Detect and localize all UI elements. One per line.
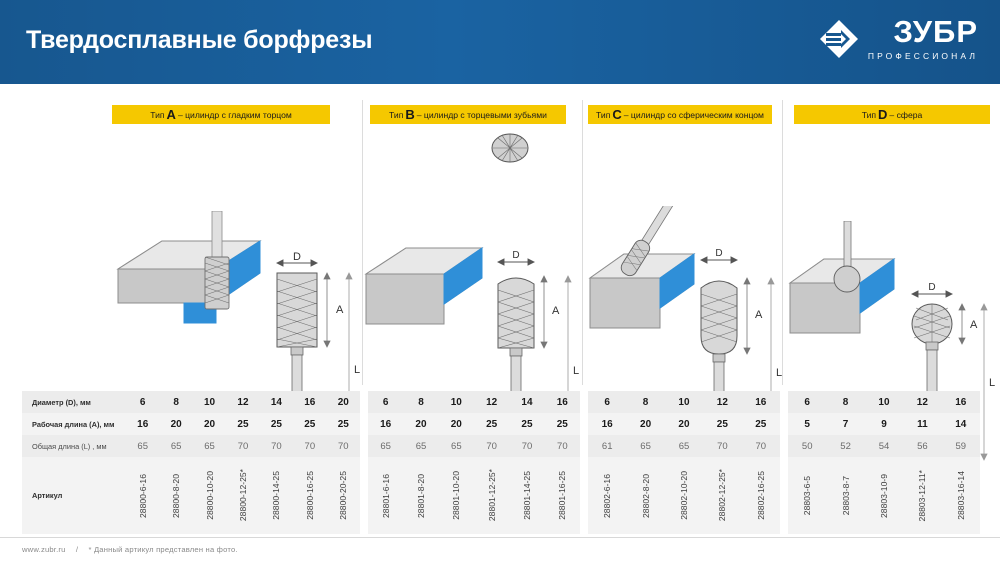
cell-article: 28800-16-25 [293, 457, 326, 534]
cell-diameter: 16 [942, 391, 980, 413]
cell-total-length: 59 [942, 435, 980, 457]
cell-working-length: 25 [703, 413, 741, 435]
table-row: Диаметр (D), мм 6 8 10 12 14 16 20 [22, 391, 360, 413]
cell-article: 28801-16-25 [545, 457, 580, 534]
cell-diameter: 16 [742, 391, 780, 413]
article-value: 28803-12-11* [917, 470, 927, 521]
cell-diameter: 16 [545, 391, 580, 413]
article-value: 28801-8-20 [416, 474, 426, 518]
cell-article: 28801-10-20 [439, 457, 474, 534]
cell-working-length: 14 [942, 413, 980, 435]
cell-diameter: 10 [439, 391, 474, 413]
cell-working-length: 25 [474, 413, 509, 435]
cell-total-length: 56 [903, 435, 941, 457]
cell-diameter: 6 [126, 391, 159, 413]
cell-working-length: 16 [126, 413, 159, 435]
cell-diameter: 8 [403, 391, 438, 413]
table-row: 16 20 20 25 25 [588, 413, 780, 435]
cell-working-length: 25 [260, 413, 293, 435]
cell-total-length: 50 [788, 435, 826, 457]
cell-total-length: 70 [260, 435, 293, 457]
cell-article: 28800-20-25 [327, 457, 360, 534]
spec-table-b: 6 8 10 12 14 16 16 20 20 25 25 25 65 [368, 391, 580, 534]
type-badge-b: Тип B – цилиндр с торцевыми зубьями [370, 105, 566, 124]
spec-tables: Диаметр (D), мм 6 8 10 12 14 16 20 Рабоч… [0, 391, 1000, 536]
cell-diameter: 16 [293, 391, 326, 413]
table-row: 6 8 10 12 16 [788, 391, 980, 413]
cell-working-length: 9 [865, 413, 903, 435]
article-value: 28802-10-20 [679, 471, 689, 520]
cell-article: 28800-10-20 [193, 457, 226, 534]
row-label-diameter: Диаметр (D), мм [22, 391, 126, 413]
table-row: Артикул 28800-6-16 28800-8-20 28800-10-2… [22, 457, 360, 534]
cell-article: 28800-14-25 [260, 457, 293, 534]
table-row: 61 65 65 70 70 [588, 435, 780, 457]
cell-working-length: 25 [509, 413, 544, 435]
article-value: 28803-8-7 [841, 476, 851, 515]
table-row: 28801-6-16 28801-8-20 28801-10-20 28801-… [368, 457, 580, 534]
table-row: 16 20 20 25 25 25 [368, 413, 580, 435]
cell-working-length: 20 [159, 413, 192, 435]
zubr-diamond-icon [818, 18, 860, 60]
table-row: 50 52 54 56 59 [788, 435, 980, 457]
cell-working-length: 7 [826, 413, 864, 435]
article-value: 28802-12-25* [717, 469, 727, 521]
cell-total-length: 70 [742, 435, 780, 457]
cell-diameter: 12 [903, 391, 941, 413]
cell-article: 28801-8-20 [403, 457, 438, 534]
cell-total-length: 65 [368, 435, 403, 457]
cell-diameter: 14 [260, 391, 293, 413]
datasheet-page: Твердосплавные борфрезы ЗУБР ПРОФЕССИОНА… [0, 0, 1000, 563]
table-row: Общая длина (L) , мм 65 65 65 70 70 70 7… [22, 435, 360, 457]
svg-text:L: L [354, 364, 360, 376]
type-badge-letter: A [167, 108, 176, 121]
cell-article: 28803-10-9 [865, 457, 903, 534]
illustration-workpiece-d [782, 221, 912, 341]
type-badge-prefix: Тип [596, 110, 610, 120]
type-badge-c: Тип C – цилиндр со сферическим концом [588, 105, 772, 124]
article-value: 28801-14-25 [522, 471, 532, 520]
svg-text:A: A [755, 309, 763, 321]
spec-table-c: 6 8 10 12 16 16 20 20 25 25 61 65 65 [588, 391, 780, 534]
type-column-d: Тип D – сфера [782, 86, 1000, 391]
article-value: 28800-8-20 [171, 474, 181, 518]
cell-diameter: 8 [826, 391, 864, 413]
article-value: 28802-16-25 [756, 471, 766, 520]
cell-total-length: 65 [193, 435, 226, 457]
cell-working-length: 25 [545, 413, 580, 435]
cell-diameter: 10 [665, 391, 703, 413]
type-badge-suffix: – сфера [889, 110, 922, 120]
table-row: 5 7 9 11 14 [788, 413, 980, 435]
type-badge-letter: C [612, 108, 621, 121]
svg-text:D: D [928, 282, 935, 293]
svg-text:D: D [293, 251, 301, 263]
table-row: 28802-6-16 28802-8-20 28802-10-20 28802-… [588, 457, 780, 534]
row-label-article: Артикул [22, 457, 126, 534]
cell-total-length: 70 [509, 435, 544, 457]
svg-text:A: A [552, 305, 560, 317]
cell-total-length: 65 [439, 435, 474, 457]
svg-text:L: L [989, 377, 995, 389]
cell-working-length: 16 [588, 413, 626, 435]
logo-wordmark: ЗУБР [894, 16, 978, 48]
cell-article: 28803-12-11* [903, 457, 941, 534]
illustration-endview-b [488, 128, 532, 168]
row-label-working-length: Рабочая длина (A), мм [22, 413, 126, 435]
type-badge-letter: D [878, 108, 887, 121]
type-badge-suffix: – цилиндр со сферическим концом [624, 110, 764, 120]
spec-table-d: 6 8 10 12 16 5 7 9 11 14 50 52 54 [788, 391, 980, 534]
cell-total-length: 65 [626, 435, 664, 457]
article-value: 28801-16-25 [557, 471, 567, 520]
cell-total-length: 70 [474, 435, 509, 457]
cell-working-length: 11 [903, 413, 941, 435]
type-badge-suffix: – цилиндр с торцевыми зубьями [417, 110, 547, 120]
article-value: 28800-12-25* [238, 469, 248, 521]
type-badge-prefix: Тип [150, 110, 164, 120]
svg-text:A: A [970, 319, 978, 331]
article-value: 28802-6-16 [602, 474, 612, 518]
article-value: 28800-6-16 [138, 474, 148, 518]
cell-article: 28802-12-25* [703, 457, 741, 534]
cell-total-length: 70 [226, 435, 259, 457]
logo-tagline: ПРОФЕССИОНАЛ [868, 51, 978, 61]
footer-website[interactable]: www.zubr.ru [22, 545, 66, 554]
row-label-total-length: Общая длина (L) , мм [22, 435, 126, 457]
footer-content: www.zubr.ru / * Данный артикул представл… [22, 545, 238, 554]
cell-working-length: 20 [626, 413, 664, 435]
cell-working-length: 5 [788, 413, 826, 435]
type-column-b: Тип B – цилиндр с торцевыми зубьями [362, 86, 582, 391]
brand-logo: ЗУБР ПРОФЕССИОНАЛ [818, 16, 978, 72]
cell-article: 28801-12-25* [474, 457, 509, 534]
cell-total-length: 65 [403, 435, 438, 457]
cell-working-length: 16 [368, 413, 403, 435]
cell-working-length: 20 [665, 413, 703, 435]
article-value: 28800-16-25 [305, 471, 315, 520]
article-value: 28803-6-5 [802, 476, 812, 515]
cell-article: 28802-8-20 [626, 457, 664, 534]
cell-working-length: 25 [742, 413, 780, 435]
type-badge-a: Тип A – цилиндр с гладким торцом [112, 105, 330, 124]
cell-diameter: 8 [159, 391, 192, 413]
cell-diameter: 14 [509, 391, 544, 413]
cell-working-length: 25 [226, 413, 259, 435]
cell-working-length: 20 [403, 413, 438, 435]
illustration-workpiece-a [110, 211, 270, 336]
type-badge-d: Тип D – сфера [794, 105, 990, 124]
cell-article: 28802-10-20 [665, 457, 703, 534]
cell-working-length: 20 [193, 413, 226, 435]
cell-diameter: 12 [474, 391, 509, 413]
svg-text:D: D [715, 248, 722, 259]
article-value: 28803-10-9 [879, 474, 889, 518]
cell-total-length: 65 [126, 435, 159, 457]
cell-total-length: 52 [826, 435, 864, 457]
cell-working-length: 20 [439, 413, 474, 435]
cell-total-length: 65 [159, 435, 192, 457]
type-badge-prefix: Тип [389, 110, 403, 120]
article-value: 28800-10-20 [205, 471, 215, 520]
table-row: Рабочая длина (A), мм 16 20 20 25 25 25 … [22, 413, 360, 435]
cell-diameter: 8 [626, 391, 664, 413]
table-row: 6 8 10 12 16 [588, 391, 780, 413]
product-type-columns: Тип A – цилиндр с гладким торцом [0, 86, 1000, 391]
cell-diameter: 20 [327, 391, 360, 413]
cell-diameter: 12 [226, 391, 259, 413]
cell-total-length: 70 [327, 435, 360, 457]
cell-diameter: 6 [368, 391, 403, 413]
table-row: 28803-6-5 28803-8-7 28803-10-9 28803-12-… [788, 457, 980, 534]
article-value: 28801-6-16 [381, 474, 391, 518]
cell-total-length: 65 [665, 435, 703, 457]
cell-diameter: 10 [193, 391, 226, 413]
table-row: 6 8 10 12 14 16 [368, 391, 580, 413]
table-row: 65 65 65 70 70 70 [368, 435, 580, 457]
cell-article: 28800-12-25* [226, 457, 259, 534]
type-badge-letter: B [405, 108, 414, 121]
cell-article: 28803-8-7 [826, 457, 864, 534]
type-column-c: Тип C – цилиндр со сферическим концом [582, 86, 782, 391]
cell-working-length: 25 [293, 413, 326, 435]
type-badge-suffix: – цилиндр с гладким торцом [178, 110, 292, 120]
article-value: 28801-10-20 [451, 471, 461, 520]
spec-table-a: Диаметр (D), мм 6 8 10 12 14 16 20 Рабоч… [22, 391, 360, 534]
cell-article: 28802-16-25 [742, 457, 780, 534]
cell-diameter: 6 [788, 391, 826, 413]
cell-diameter: 12 [703, 391, 741, 413]
cell-article: 28802-6-16 [588, 457, 626, 534]
page-footer: www.zubr.ru / * Данный артикул представл… [0, 537, 1000, 563]
page-header: Твердосплавные борфрезы ЗУБР ПРОФЕССИОНА… [0, 0, 1000, 86]
article-value: 28803-16-14 [956, 471, 966, 520]
article-value: 28800-14-25 [271, 471, 281, 520]
cell-diameter: 6 [588, 391, 626, 413]
page-title: Твердосплавные борфрезы [26, 26, 372, 55]
cell-article: 28800-6-16 [126, 457, 159, 534]
svg-text:D: D [512, 250, 519, 261]
cell-article: 28800-8-20 [159, 457, 192, 534]
article-value: 28801-12-25* [487, 469, 497, 521]
cell-article: 28801-6-16 [368, 457, 403, 534]
footer-note: * Данный артикул представлен на фото. [89, 545, 238, 554]
type-column-a: Тип A – цилиндр с гладким торцом [0, 86, 362, 391]
cell-article: 28801-14-25 [509, 457, 544, 534]
svg-text:L: L [573, 365, 579, 377]
type-badge-prefix: Тип [862, 110, 876, 120]
article-value: 28802-8-20 [641, 474, 651, 518]
cell-article: 28803-16-14 [942, 457, 980, 534]
cell-article: 28803-6-5 [788, 457, 826, 534]
svg-text:A: A [336, 304, 344, 316]
cell-total-length: 70 [293, 435, 326, 457]
cell-total-length: 61 [588, 435, 626, 457]
cell-total-length: 70 [703, 435, 741, 457]
cell-total-length: 70 [545, 435, 580, 457]
cell-working-length: 25 [327, 413, 360, 435]
cell-diameter: 10 [865, 391, 903, 413]
article-value: 28800-20-25 [338, 471, 348, 520]
cell-total-length: 54 [865, 435, 903, 457]
footer-separator: / [76, 545, 78, 554]
